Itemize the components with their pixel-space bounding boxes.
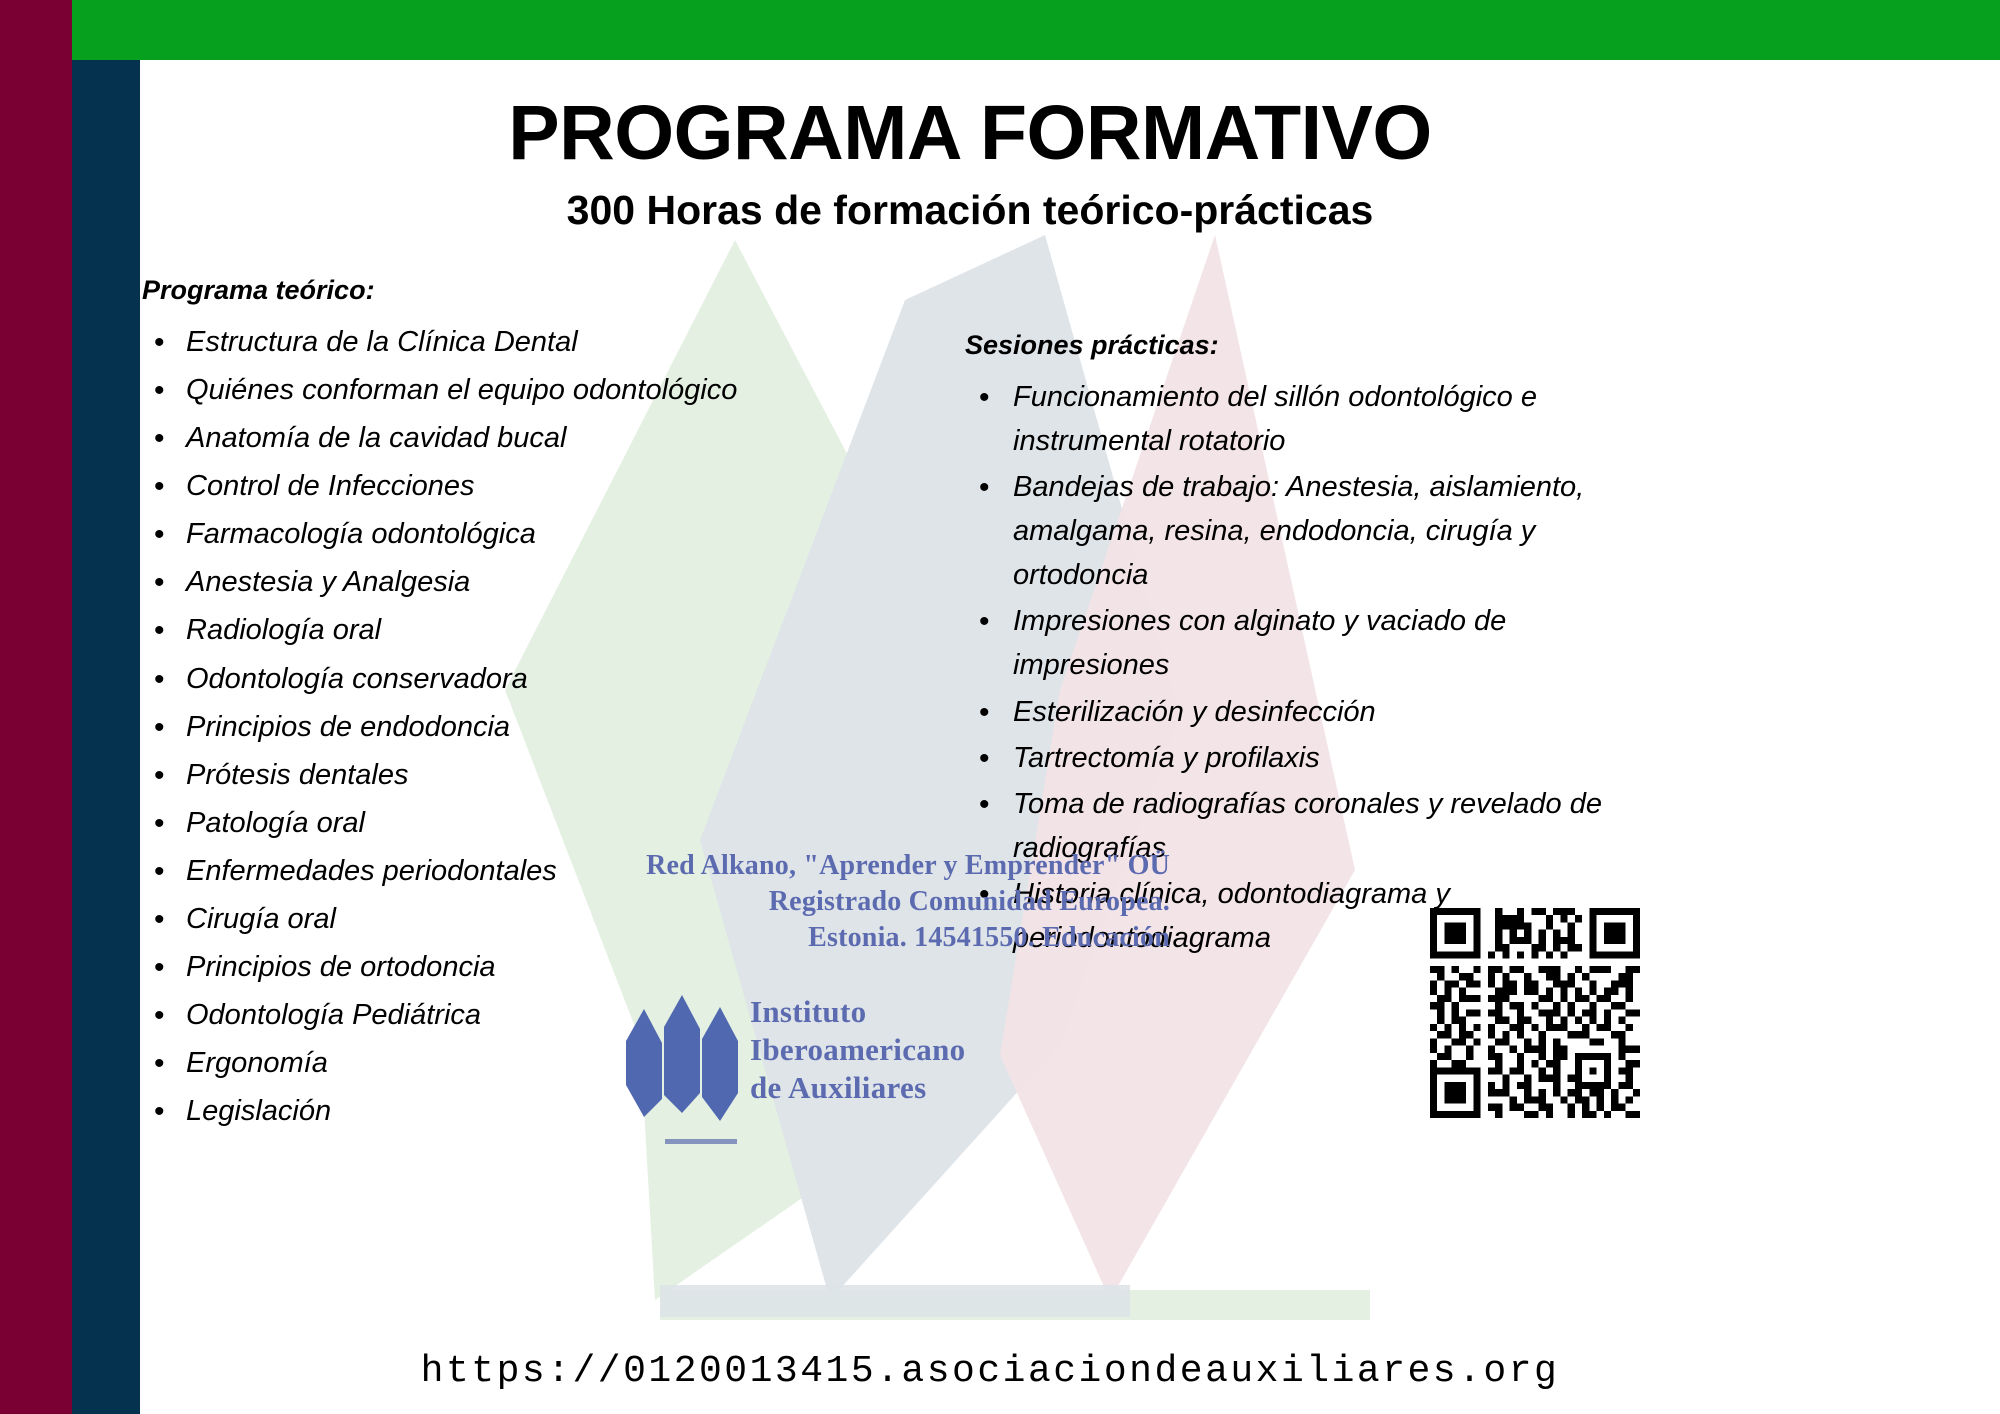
list-item: Impresiones con alginato y vaciado de im… (965, 599, 1665, 687)
list-item: Estructura de la Clínica Dental (140, 320, 840, 364)
theory-heading: Programa teórico: (140, 275, 840, 306)
list-item: Radiología oral (140, 608, 840, 652)
qr-code-icon (1430, 908, 1640, 1118)
qr-code[interactable] (1430, 908, 1640, 1118)
logo-registration-line-3: Estonia. 14541550. Educación (610, 920, 1170, 956)
top-accent-bar-green (72, 0, 2000, 60)
website-url[interactable]: https://0120013415.asociaciondeauxiliare… (140, 1350, 1840, 1393)
list-item: Esterilización y desinfección (965, 690, 1665, 734)
logo-registration-line-1: Red Alkano, "Aprender y Emprender" OÜ (610, 848, 1170, 884)
left-accent-bar-maroon (0, 0, 72, 1414)
institute-logo-icon (618, 981, 748, 1131)
left-accent-bar-navy (72, 60, 140, 1414)
page-subtitle: 300 Horas de formación teórico-prácticas (140, 190, 1800, 231)
list-item: Anatomía de la cavidad bucal (140, 416, 840, 460)
practice-heading: Sesiones prácticas: (965, 330, 1665, 361)
organization-logo-block: Red Alkano, "Aprender y Emprender" OÜ Re… (610, 848, 1170, 1111)
list-item: Principios de endodoncia (140, 705, 840, 749)
logo-underline (665, 1139, 737, 1144)
poster-content: PROGRAMA FORMATIVO 300 Horas de formació… (140, 60, 2000, 1414)
institute-name-line-2: Iberoamericano (750, 1031, 965, 1069)
list-item: Odontología conservadora (140, 657, 840, 701)
poster-page: PROGRAMA FORMATIVO 300 Horas de formació… (0, 0, 2000, 1414)
list-item: Control de Infecciones (140, 464, 840, 508)
list-item: Bandejas de trabajo: Anestesia, aislamie… (965, 465, 1665, 597)
list-item: Patología oral (140, 801, 840, 845)
institute-name-line-1: Instituto (750, 993, 965, 1031)
logo-registration-line-2: Registrado Comunidad Europea. (610, 884, 1170, 920)
logo-bottom-row: Instituto Iberoamericano de Auxiliares (610, 981, 1170, 1111)
list-item: Quiénes conforman el equipo odontológico (140, 368, 840, 412)
list-item: Funcionamiento del sillón odontológico e… (965, 375, 1665, 463)
institute-name-line-3: de Auxiliares (750, 1069, 965, 1107)
list-item: Farmacología odontológica (140, 512, 840, 556)
list-item: Anestesia y Analgesia (140, 560, 840, 604)
list-item: Prótesis dentales (140, 753, 840, 797)
page-title: PROGRAMA FORMATIVO (140, 95, 1800, 172)
list-item: Tartrectomía y profilaxis (965, 736, 1665, 780)
institute-name: Instituto Iberoamericano de Auxiliares (750, 993, 965, 1106)
